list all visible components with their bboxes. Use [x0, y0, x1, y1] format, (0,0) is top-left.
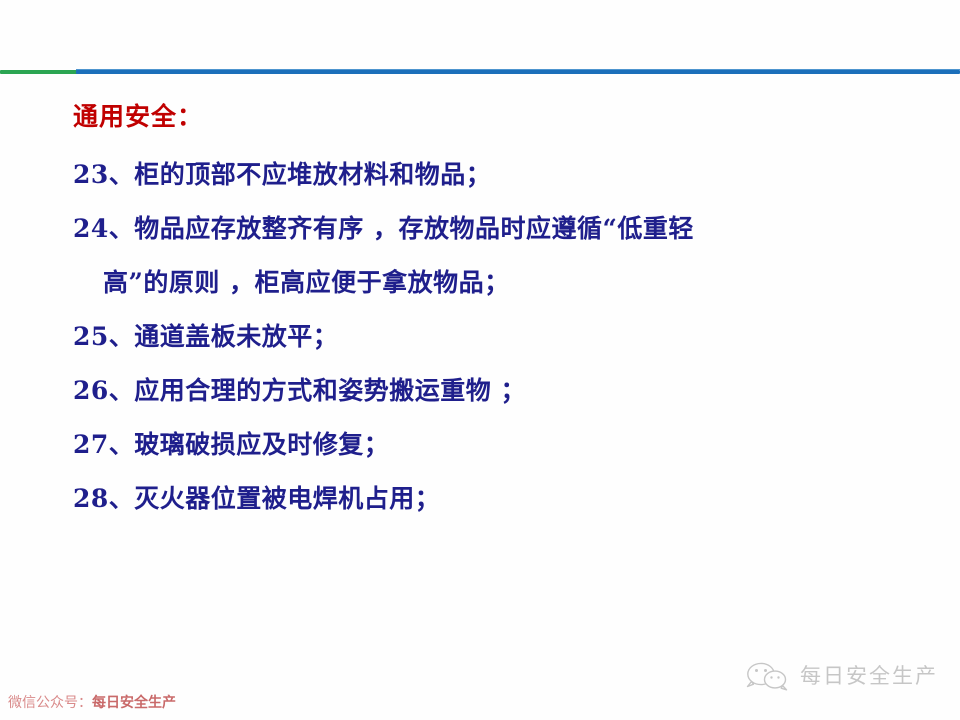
- watermark-bottom-left: 微信公众号：每日安全生产: [8, 694, 176, 712]
- list-item: 23、柜的顶部不应堆放材料和物品；: [73, 148, 933, 202]
- list-item: 26、应用合理的方式和姿势搬运重物 ；: [73, 364, 933, 418]
- slide-canvas: 通用安全： 23、柜的顶部不应堆放材料和物品； 24、物品应存放整齐有序 ，存放…: [0, 0, 960, 720]
- list-item: 28、灭火器位置被电焊机占用；: [73, 472, 933, 526]
- list-item-continuation: 高”的原则 ，柜高应便于拿放物品；: [73, 256, 933, 310]
- divider-green-segment: [0, 70, 78, 74]
- list-item: 27、玻璃破损应及时修复；: [73, 418, 933, 472]
- divider-blue-segment: [76, 70, 960, 74]
- watermark-prefix-label: 微信公众号：: [8, 695, 92, 711]
- section-heading: 通用安全：: [73, 102, 933, 132]
- header-divider-rule: [0, 69, 960, 74]
- watermark-bottom-right: 每日安全生产: [746, 660, 938, 692]
- wechat-icon: [746, 660, 790, 692]
- list-item: 24、物品应存放整齐有序 ，存放物品时应遵循“低重轻: [73, 202, 933, 256]
- watermark-account-label: 每日安全生产: [92, 695, 176, 711]
- list-item: 25、通道盖板未放平；: [73, 310, 933, 364]
- watermark-logo-label: 每日安全生产: [800, 663, 938, 689]
- slide-content: 通用安全： 23、柜的顶部不应堆放材料和物品； 24、物品应存放整齐有序 ，存放…: [73, 102, 933, 526]
